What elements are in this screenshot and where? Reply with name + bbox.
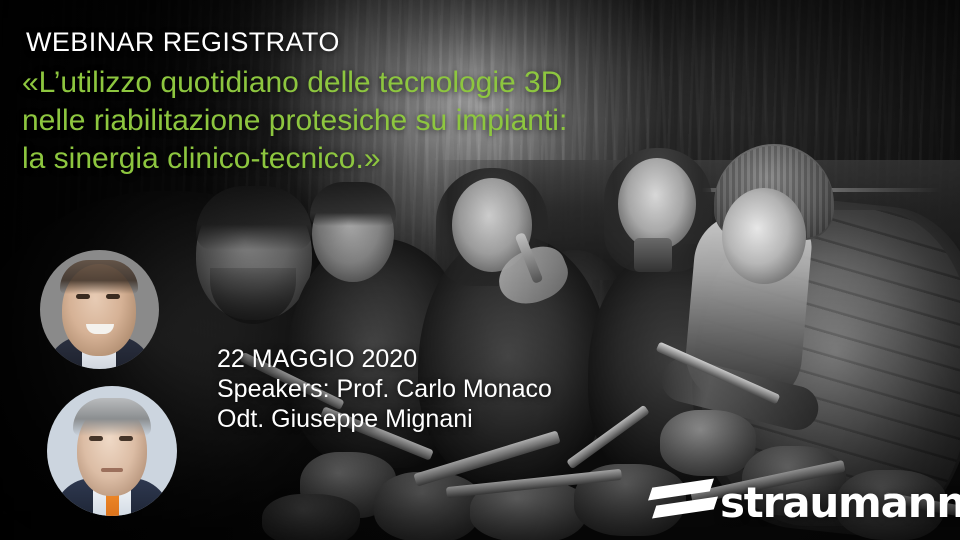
event-date: 22 MAGGIO 2020 <box>217 344 552 374</box>
webinar-promo-slide: WEBINAR REGISTRATO «L’utilizzo quotidian… <box>0 0 960 540</box>
fire-ring-rock <box>262 494 360 540</box>
avatar-hair <box>73 398 151 436</box>
avatar-hair <box>60 260 138 294</box>
straumann-wordmark: straumann <box>720 482 960 524</box>
event-details: 22 MAGGIO 2020 Speakers: Prof. Carlo Mon… <box>217 344 552 434</box>
title-line-1: «L’utilizzo quotidiano delle tecnologie … <box>22 64 722 102</box>
avatar-mouth <box>101 468 123 472</box>
webinar-title: «L’utilizzo quotidiano delle tecnologie … <box>22 64 722 178</box>
avatar-eye-left <box>76 294 90 299</box>
straumann-logo[interactable]: straumann <box>658 480 960 526</box>
coffee-mug <box>634 238 672 272</box>
speaker-line-1: Speakers: Prof. Carlo Monaco <box>217 374 552 404</box>
avatar-odt-giuseppe-mignani <box>47 386 177 516</box>
straumann-s-mark-icon <box>658 480 710 526</box>
avatar-eye-right <box>106 294 120 299</box>
fire-ring-rock <box>660 410 756 476</box>
avatar-prof-carlo-monaco <box>40 250 159 369</box>
avatar-eye-left <box>89 436 103 441</box>
kicker-label: WEBINAR REGISTRATO <box>26 27 340 58</box>
title-line-3: la sinergia clinico-tecnico.» <box>22 140 722 178</box>
speaker-line-2: Odt. Giuseppe Mignani <box>217 404 552 434</box>
title-line-2: nelle riabilitazione protesiche su impia… <box>22 102 722 140</box>
avatar-eye-right <box>119 436 133 441</box>
person-puffer-head <box>722 188 806 284</box>
person-second-hair <box>310 182 396 226</box>
